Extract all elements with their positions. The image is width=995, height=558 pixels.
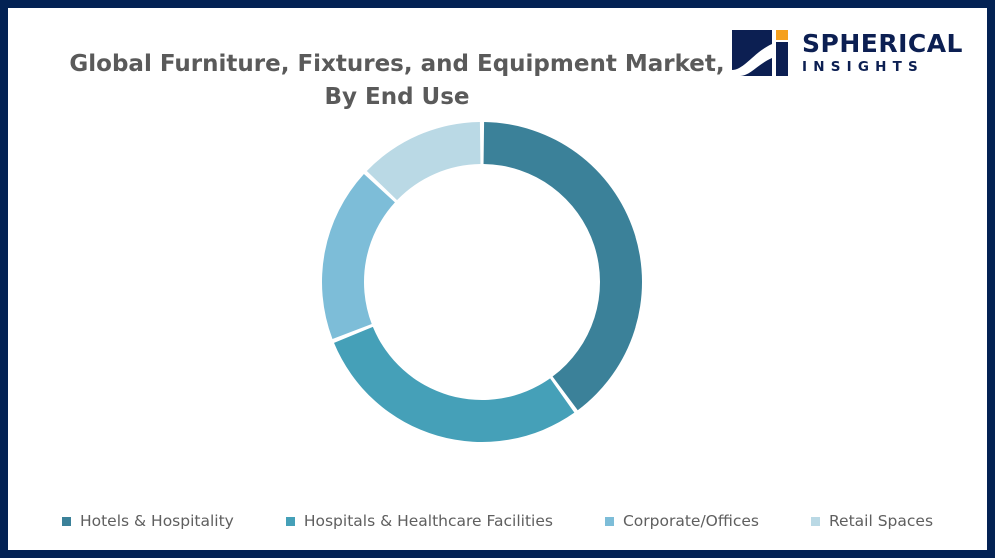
logo-primary-text: SPHERICAL: [802, 31, 963, 56]
legend-item[interactable]: Corporate/Offices: [605, 512, 759, 530]
donut-slice[interactable]: [484, 122, 642, 410]
logo-secondary-text: INSIGHTS: [802, 61, 963, 75]
legend-item-label: Hospitals & Healthcare Facilities: [304, 512, 553, 530]
legend-item-label: Corporate/Offices: [623, 512, 759, 530]
donut-slice[interactable]: [334, 327, 574, 442]
logo-wordmark: SPHERICAL INSIGHTS: [802, 31, 963, 75]
legend-item-label: Retail Spaces: [829, 512, 933, 530]
chart-title: Global Furniture, Fixtures, and Equipmen…: [52, 48, 742, 113]
chart-card: SPHERICAL INSIGHTS Global Furniture, Fix…: [0, 0, 995, 558]
chart-title-line-2: By End Use: [52, 81, 742, 114]
legend-item[interactable]: Hospitals & Healthcare Facilities: [286, 512, 553, 530]
chart-legend: Hotels & HospitalityHospitals & Healthca…: [8, 512, 987, 530]
legend-item[interactable]: Hotels & Hospitality: [62, 512, 234, 530]
donut-chart: [314, 114, 650, 450]
chart-title-line-1: Global Furniture, Fixtures, and Equipmen…: [52, 48, 742, 81]
legend-swatch-icon: [605, 517, 614, 526]
spherical-insights-logo: SPHERICAL INSIGHTS: [732, 30, 963, 76]
legend-swatch-icon: [286, 517, 295, 526]
legend-swatch-icon: [62, 517, 71, 526]
legend-swatch-icon: [811, 517, 820, 526]
donut-slice[interactable]: [367, 122, 481, 200]
legend-item-label: Hotels & Hospitality: [80, 512, 234, 530]
donut-slice[interactable]: [322, 174, 395, 339]
donut-slice-group: [322, 122, 642, 442]
legend-item[interactable]: Retail Spaces: [811, 512, 933, 530]
chart-area: [8, 114, 987, 486]
